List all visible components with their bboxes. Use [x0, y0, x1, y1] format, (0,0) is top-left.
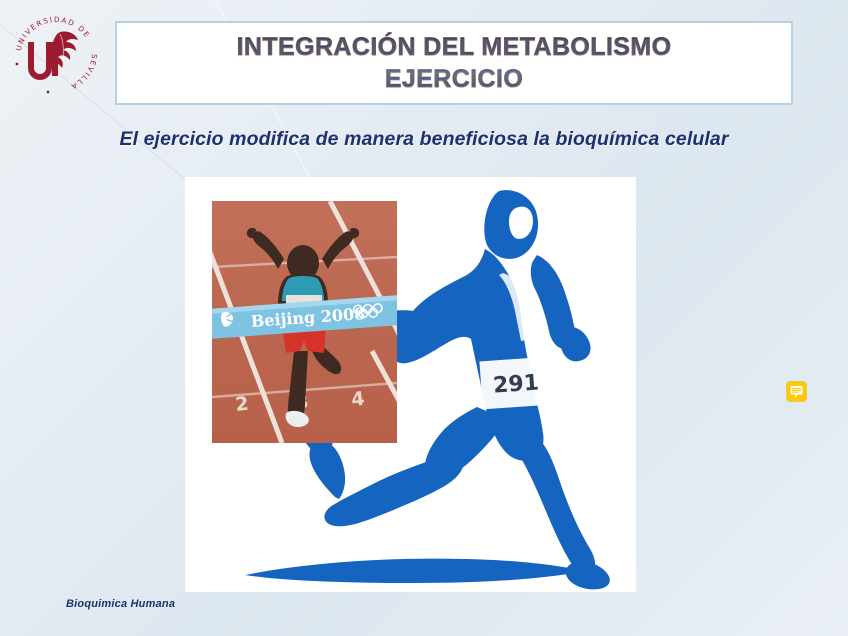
title-line-1: INTEGRACIÓN DEL METABOLISMO — [237, 31, 672, 64]
slide-canvas: UNIVERSIDAD DE SEVILLA INTEGRACIÓN DEL M… — [0, 0, 848, 636]
universidad-de-sevilla-logo: UNIVERSIDAD DE SEVILLA — [8, 6, 100, 94]
comment-icon[interactable] — [787, 382, 806, 401]
background-diagonal-line-3 — [807, 299, 848, 636]
page-title: INTEGRACIÓN DEL METABOLISMO EJERCICIO — [237, 31, 672, 96]
runner-bib-number: 291 — [492, 370, 540, 398]
svg-text:2: 2 — [234, 393, 249, 416]
svg-text:SEVILLA: SEVILLA — [69, 53, 100, 91]
marathon-finish-photo: 2 3 4 — [212, 201, 397, 443]
title-line-2: EJERCICIO — [237, 63, 672, 96]
footer-label: Bioquimica Humana — [66, 598, 175, 610]
title-box: INTEGRACIÓN DEL METABOLISMO EJERCICIO — [115, 21, 793, 105]
subtitle-text: El ejercicio modifica de manera benefici… — [0, 128, 848, 151]
svg-text:4: 4 — [350, 388, 365, 411]
picture-block: 291 — [185, 177, 636, 592]
